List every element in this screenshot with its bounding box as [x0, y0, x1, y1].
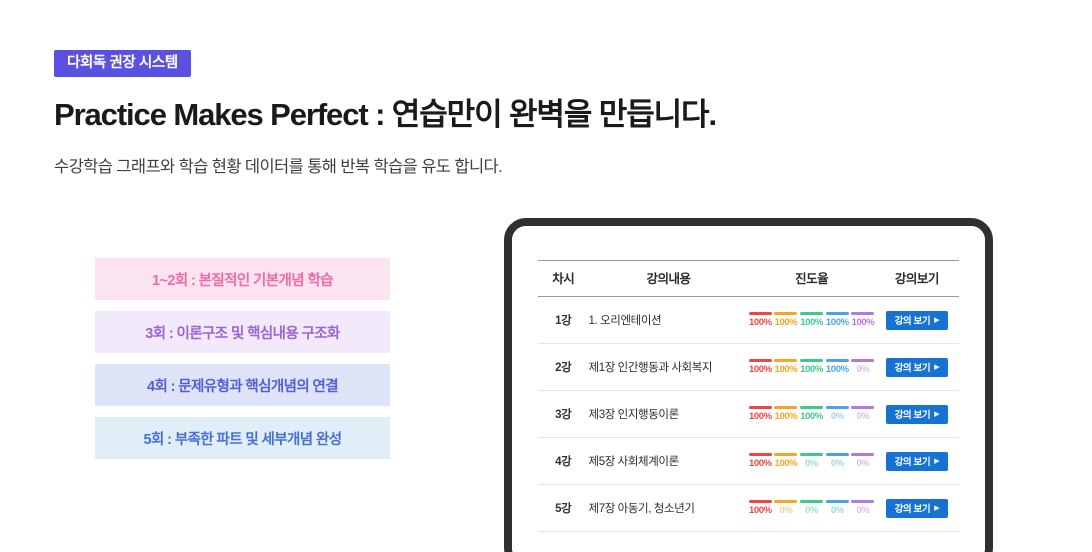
progress-bar-3 [800, 312, 823, 315]
progress-bar-5 [851, 453, 874, 456]
cell-session-number: 1강 [538, 297, 589, 344]
tablet-device-frame: 차시 강의내용 진도율 강의보기 1강1. 오리엔테이션100%100%100%… [504, 218, 993, 552]
table-row: 2강제1장 인간행동과 사회복지100%100%100%100%0%강의 보기▶ [538, 344, 959, 391]
view-lecture-button[interactable]: 강의 보기▶ [886, 499, 948, 518]
progress-item-1: 100% [748, 359, 772, 374]
study-steps-list: 1~2회 : 본질적인 기본개념 학습 3회 : 이론구조 및 핵심내용 구조화… [95, 258, 390, 470]
view-lecture-button[interactable]: 강의 보기▶ [886, 452, 948, 471]
progress-bar-group: 100%100%0%0%0% [748, 453, 874, 468]
step-box-3: 4회 : 문제유형과 핵심개념의 연결 [95, 364, 390, 406]
progress-label-4: 0% [831, 506, 844, 516]
cell-session-number: 2강 [538, 344, 589, 391]
progress-item-2: 100% [774, 453, 798, 468]
progress-label-3: 0% [805, 459, 818, 469]
progress-item-5: 0% [851, 453, 875, 468]
device-screen: 차시 강의내용 진도율 강의보기 1강1. 오리엔테이션100%100%100%… [512, 226, 985, 552]
table-row: 1강1. 오리엔테이션100%100%100%100%100%강의 보기▶ [538, 297, 959, 344]
play-caret-icon: ▶ [934, 411, 939, 418]
progress-item-3: 0% [800, 500, 824, 515]
progress-item-3: 100% [800, 406, 824, 421]
cell-session-number: 5강 [538, 485, 589, 532]
progress-label-3: 100% [800, 412, 823, 422]
progress-label-4: 0% [831, 412, 844, 422]
progress-bar-5 [851, 500, 874, 503]
progress-bar-1 [749, 500, 772, 503]
view-lecture-button-label: 강의 보기 [895, 407, 931, 421]
step-box-3-label: 4회 : 문제유형과 핵심개념의 연결 [147, 375, 338, 396]
progress-label-3: 0% [805, 506, 818, 516]
progress-label-1: 100% [749, 506, 772, 516]
progress-bar-2 [774, 406, 797, 409]
cell-view-action: 강의 보기▶ [875, 344, 959, 391]
progress-item-1: 100% [748, 312, 772, 327]
cell-view-action: 강의 보기▶ [875, 297, 959, 344]
progress-bar-3 [800, 453, 823, 456]
progress-item-3: 100% [800, 312, 824, 327]
progress-bar-3 [800, 406, 823, 409]
progress-label-4: 100% [826, 365, 849, 375]
progress-label-5: 0% [856, 365, 869, 375]
cell-lecture-title: 제3장 인지행동이론 [589, 391, 749, 438]
progress-bar-1 [749, 406, 772, 409]
progress-item-2: 100% [774, 312, 798, 327]
col-header-progress: 진도율 [748, 261, 874, 297]
view-lecture-button-label: 강의 보기 [895, 454, 931, 468]
progress-label-3: 100% [800, 318, 823, 328]
table-row: 5강제7장 아동기, 청소년기100%0%0%0%0%강의 보기▶ [538, 485, 959, 532]
progress-item-5: 0% [851, 359, 875, 374]
progress-bar-1 [749, 453, 772, 456]
progress-bar-5 [851, 359, 874, 362]
progress-label-2: 100% [775, 318, 798, 328]
step-box-4-label: 5회 : 부족한 파트 및 세부개념 완성 [144, 428, 342, 449]
cell-view-action: 강의 보기▶ [875, 438, 959, 485]
col-header-content: 강의내용 [589, 261, 749, 297]
progress-item-4: 0% [825, 500, 849, 515]
progress-label-1: 100% [749, 365, 772, 375]
progress-item-5: 0% [851, 500, 875, 515]
progress-bar-3 [800, 500, 823, 503]
cell-progress: 100%100%100%100%0% [748, 344, 874, 391]
play-caret-icon: ▶ [934, 317, 939, 324]
progress-bar-group: 100%100%100%0%0% [748, 406, 874, 421]
progress-item-1: 100% [748, 500, 772, 515]
progress-item-5: 0% [851, 406, 875, 421]
play-caret-icon: ▶ [934, 505, 939, 512]
progress-label-4: 100% [826, 318, 849, 328]
progress-bar-3 [800, 359, 823, 362]
view-lecture-button[interactable]: 강의 보기▶ [886, 311, 948, 330]
progress-label-5: 0% [856, 506, 869, 516]
progress-bar-group: 100%100%100%100%0% [748, 359, 874, 374]
table-header-row: 차시 강의내용 진도율 강의보기 [538, 261, 959, 297]
col-header-session: 차시 [538, 261, 589, 297]
view-lecture-button[interactable]: 강의 보기▶ [886, 358, 948, 377]
progress-label-5: 0% [856, 412, 869, 422]
step-box-2-label: 3회 : 이론구조 및 핵심내용 구조화 [145, 322, 339, 343]
view-lecture-button[interactable]: 강의 보기▶ [886, 405, 948, 424]
cell-session-number: 4강 [538, 438, 589, 485]
progress-label-2: 0% [780, 506, 793, 516]
play-caret-icon: ▶ [934, 364, 939, 371]
progress-bar-5 [851, 406, 874, 409]
progress-label-2: 100% [775, 412, 798, 422]
progress-bar-5 [851, 312, 874, 315]
progress-item-4: 0% [825, 406, 849, 421]
page-root: 다회독 권장 시스템 Practice Makes Perfect : 연습만이… [0, 0, 1092, 552]
section-badge: 다회독 권장 시스템 [54, 50, 191, 77]
progress-item-5: 100% [851, 312, 875, 327]
lecture-progress-table: 차시 강의내용 진도율 강의보기 1강1. 오리엔테이션100%100%100%… [538, 260, 959, 532]
progress-label-2: 100% [775, 365, 798, 375]
progress-bar-group: 100%0%0%0%0% [748, 500, 874, 515]
progress-bar-4 [826, 312, 849, 315]
progress-item-4: 100% [825, 312, 849, 327]
step-box-4: 5회 : 부족한 파트 및 세부개념 완성 [95, 417, 390, 459]
play-caret-icon: ▶ [934, 458, 939, 465]
cell-lecture-title: 제1장 인간행동과 사회복지 [589, 344, 749, 391]
progress-label-2: 100% [775, 459, 798, 469]
page-title: Practice Makes Perfect : 연습만이 완벽을 만듭니다. [54, 96, 716, 135]
progress-label-1: 100% [749, 459, 772, 469]
progress-bar-4 [826, 359, 849, 362]
progress-item-2: 100% [774, 359, 798, 374]
progress-bar-4 [826, 453, 849, 456]
progress-label-3: 100% [800, 365, 823, 375]
table-row: 4강제5장 사회체계이론100%100%0%0%0%강의 보기▶ [538, 438, 959, 485]
progress-bar-2 [774, 453, 797, 456]
view-lecture-button-label: 강의 보기 [895, 313, 931, 327]
progress-item-1: 100% [748, 453, 772, 468]
cell-view-action: 강의 보기▶ [875, 485, 959, 532]
view-lecture-button-label: 강의 보기 [895, 360, 931, 374]
progress-item-3: 0% [800, 453, 824, 468]
page-subtitle: 수강학습 그래프와 학습 현황 데이터를 통해 반복 학습을 유도 합니다. [54, 156, 502, 179]
progress-bar-2 [774, 500, 797, 503]
progress-bar-group: 100%100%100%100%100% [748, 312, 874, 327]
table-body: 1강1. 오리엔테이션100%100%100%100%100%강의 보기▶2강제… [538, 297, 959, 532]
progress-item-4: 100% [825, 359, 849, 374]
cell-progress: 100%0%0%0%0% [748, 485, 874, 532]
cell-session-number: 3강 [538, 391, 589, 438]
step-box-1-label: 1~2회 : 본질적인 기본개념 학습 [152, 269, 333, 290]
step-box-1: 1~2회 : 본질적인 기본개념 학습 [95, 258, 390, 300]
progress-item-2: 100% [774, 406, 798, 421]
cell-lecture-title: 제5장 사회체계이론 [589, 438, 749, 485]
table-header: 차시 강의내용 진도율 강의보기 [538, 261, 959, 297]
progress-item-3: 100% [800, 359, 824, 374]
progress-bar-1 [749, 359, 772, 362]
cell-lecture-title: 제7장 아동기, 청소년기 [589, 485, 749, 532]
step-box-2: 3회 : 이론구조 및 핵심내용 구조화 [95, 311, 390, 353]
progress-bar-1 [749, 312, 772, 315]
progress-label-1: 100% [749, 412, 772, 422]
progress-bar-4 [826, 500, 849, 503]
cell-progress: 100%100%100%100%100% [748, 297, 874, 344]
progress-bar-2 [774, 359, 797, 362]
col-header-view: 강의보기 [875, 261, 959, 297]
progress-label-1: 100% [749, 318, 772, 328]
progress-label-5: 0% [856, 459, 869, 469]
progress-label-5: 100% [852, 318, 875, 328]
table-row: 3강제3장 인지행동이론100%100%100%0%0%강의 보기▶ [538, 391, 959, 438]
progress-label-4: 0% [831, 459, 844, 469]
cell-progress: 100%100%0%0%0% [748, 438, 874, 485]
progress-bar-2 [774, 312, 797, 315]
progress-item-2: 0% [774, 500, 798, 515]
cell-view-action: 강의 보기▶ [875, 391, 959, 438]
progress-item-4: 0% [825, 453, 849, 468]
view-lecture-button-label: 강의 보기 [895, 501, 931, 515]
cell-lecture-title: 1. 오리엔테이션 [589, 297, 749, 344]
cell-progress: 100%100%100%0%0% [748, 391, 874, 438]
progress-item-1: 100% [748, 406, 772, 421]
progress-bar-4 [826, 406, 849, 409]
